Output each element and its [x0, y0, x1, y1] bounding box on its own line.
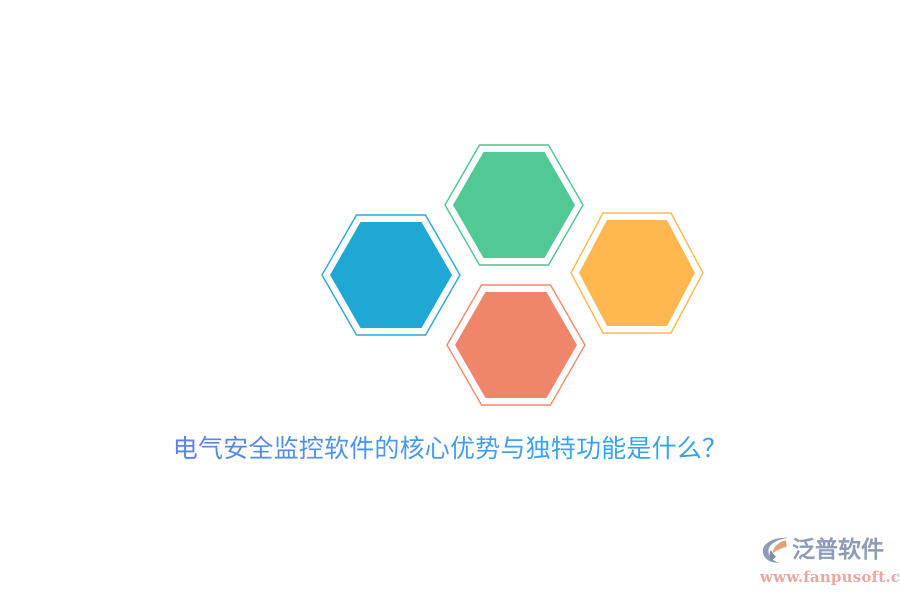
brand-url: www.fanpusoft.com [758, 568, 892, 586]
green-hexagon-group [445, 145, 583, 265]
page-title: 电气安全监控软件的核心优势与独特功能是什么？ [0, 430, 900, 468]
blue-hexagon-fill [330, 222, 452, 328]
page-root: 电气安全监控软件的核心优势与独特功能是什么？ 泛普软件 www.fanpusof… [0, 0, 900, 600]
orange-hexagon-group [571, 213, 703, 333]
orange-hexagon-fill [579, 220, 695, 326]
salmon-hexagon-fill [455, 292, 577, 398]
fanpu-logo-icon [760, 535, 790, 565]
green-hexagon-fill [453, 152, 575, 258]
brand-watermark: 泛普软件 www.fanpusoft.com [758, 532, 892, 594]
salmon-hexagon-group [447, 285, 585, 405]
hexagon-cluster-graphic [0, 0, 900, 480]
brand-name: 泛普软件 [792, 539, 884, 562]
hexagon-cluster-svg [0, 0, 900, 480]
brand-logo-row: 泛普软件 [758, 532, 892, 568]
blue-hexagon-group [322, 215, 460, 335]
